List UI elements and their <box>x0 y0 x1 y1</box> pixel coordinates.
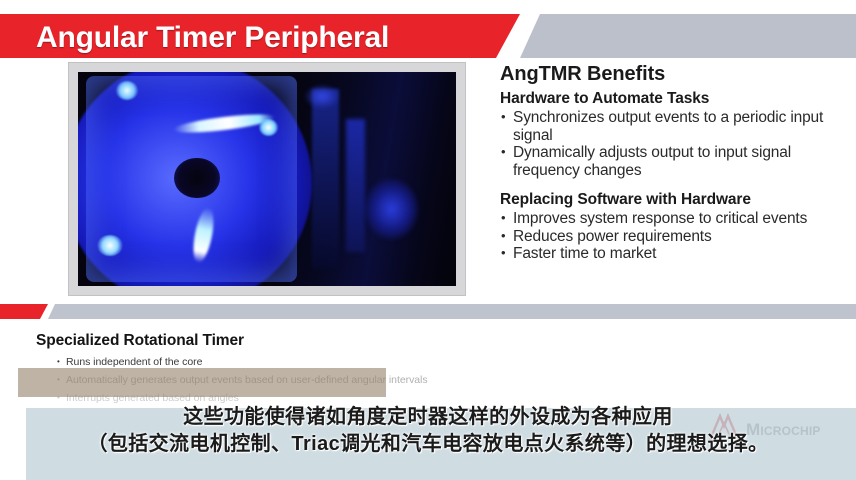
slide-title-banner: Angular Timer Peripheral <box>0 14 856 58</box>
bullet-item: Reduces power requirements <box>500 228 852 246</box>
translucent-overlay-band <box>18 368 386 397</box>
photo-glow-right <box>365 179 418 239</box>
blue-led-fan-photo <box>78 72 456 286</box>
section-heading: Hardware to Automate Tasks <box>500 90 852 108</box>
bullet-item: Faster time to market <box>500 245 852 263</box>
photo-frame <box>68 62 466 296</box>
section-heading: Replacing Software with Hardware <box>500 191 852 209</box>
section-spacer <box>500 179 852 191</box>
page-title: Angular Timer Peripheral <box>36 21 389 55</box>
photo-component-bar-2 <box>346 119 365 252</box>
fan-hub <box>174 158 219 199</box>
bullet-item: Dynamically adjusts output to input sign… <box>500 144 852 179</box>
benefits-text-block: AngTMR Benefits Hardware to Automate Tas… <box>500 63 852 263</box>
photo-component-bar <box>312 89 338 269</box>
bullet-item: Improves system response to critical eve… <box>500 210 852 228</box>
banner-gray-shape <box>520 14 856 58</box>
presentation-video-frame: Angular Timer Peripheral AngTMR Benefits <box>0 0 856 480</box>
slide2-red-tab <box>0 304 48 319</box>
subtitle-block: 这些功能使得诸如角度定时器这样的外设成为各种应用 （包括交流电机控制、Triac… <box>0 404 856 458</box>
section-heading-specialized-rotational-timer: Specialized Rotational Timer <box>36 332 244 350</box>
benefits-title: AngTMR Benefits <box>500 63 852 86</box>
led-spark-upper-left <box>116 81 139 100</box>
slide2-gray-bar <box>48 304 856 319</box>
photo-glow-top <box>305 85 339 109</box>
benefits-section-replacing-software: Replacing Software with Hardware Improve… <box>500 191 852 263</box>
benefits-section-hardware-automate: Hardware to Automate Tasks Synchronizes … <box>500 90 852 179</box>
subtitle-line-2: （包括交流电机控制、Triac调光和汽车电容放电点火系统等）的理想选择。 <box>0 431 856 458</box>
subtitle-line-1: 这些功能使得诸如角度定时器这样的外设成为各种应用 <box>0 404 856 431</box>
slide-angular-timer-peripheral: Angular Timer Peripheral AngTMR Benefits <box>0 0 856 300</box>
bullet-item: Synchronizes output events to a periodic… <box>500 109 852 144</box>
